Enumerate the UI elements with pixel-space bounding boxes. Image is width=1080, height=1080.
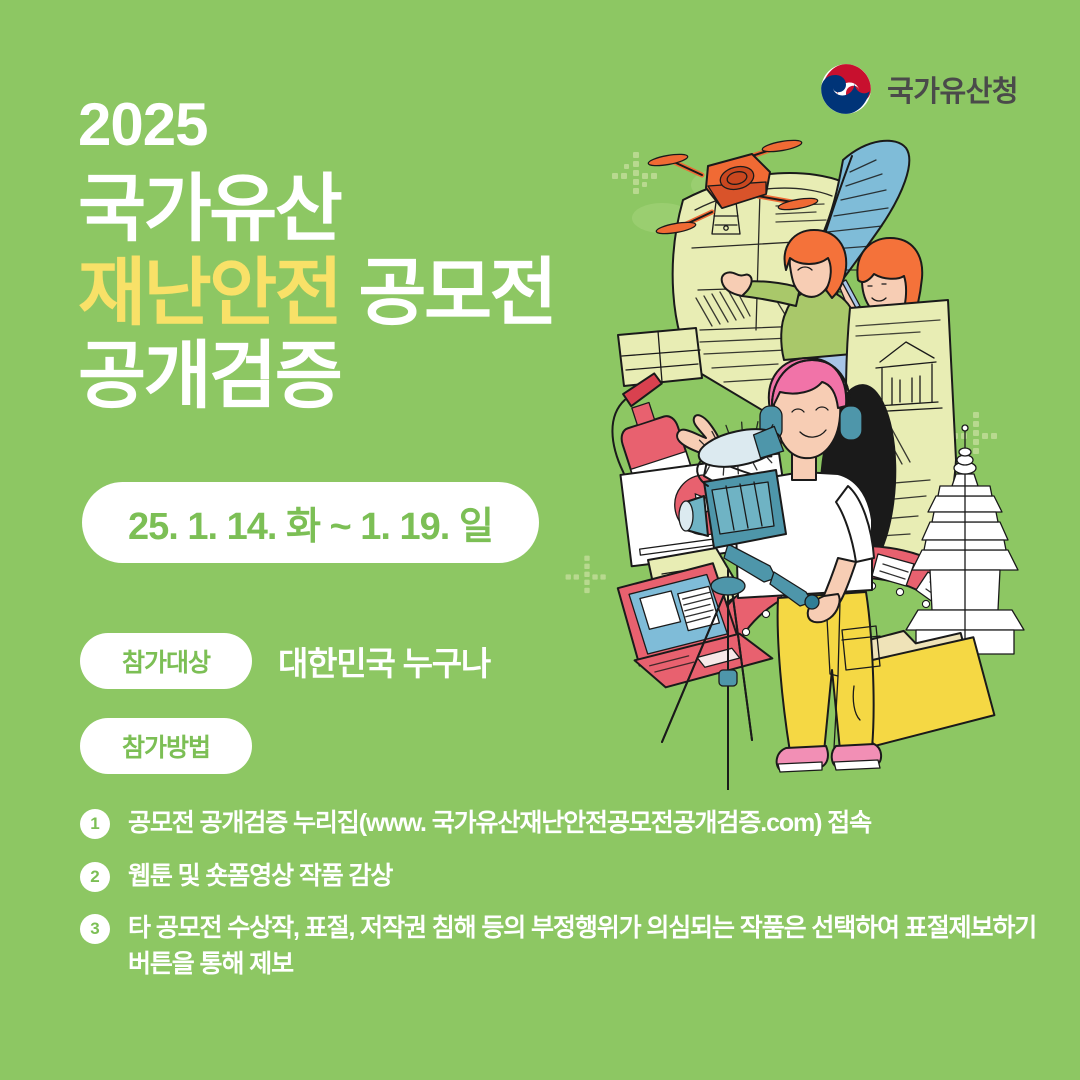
title-line-2-rest: 공모전 [358,251,555,334]
step-text: 타 공모전 수상작, 표절, 저작권 침해 등의 부정행위가 의심되는 작품은 … [128,911,1040,982]
date-badge-text: 25. 1. 14. 화 ~ 1. 19. 일 [128,495,493,550]
tag-participant-target-label: 참가대상 [122,649,210,677]
title-block: 2025 국가유산 재난안전 공모전 공개검증 [78,95,555,418]
title-line-1: 국가유산 [78,167,555,251]
step-number-badge: 1 [80,809,110,839]
list-item: 3 타 공모전 수상작, 표절, 저작권 침해 등의 부정행위가 의심되는 작품… [80,911,1040,982]
title-line-2: 재난안전 공모전 [78,251,555,335]
korea-government-taegeuk-emblem-icon [819,62,873,116]
participation-steps-list: 1 공모전 공개검증 누리집(www. 국가유산재난안전공모전공개검증.com)… [80,806,1040,999]
info-row-target: 참가대상 대한민국 누구나 [80,633,490,689]
list-item: 2 웹툰 및 숏폼영상 작품 감상 [80,859,1040,895]
date-badge: 25. 1. 14. 화 ~ 1. 19. 일 [82,482,539,563]
illustration-heritage-content-creators: .ink { fill:none; stroke:#1A1A1A; stroke… [600,130,1070,790]
participant-target-value: 대한민국 누구나 [278,637,490,685]
info-row-method: 참가방법 [80,718,252,774]
step-number-badge: 2 [80,862,110,892]
small-blueprint-paper [618,328,702,386]
agency-name: 국가유산청 [887,68,1018,110]
title-highlight: 재난안전 [78,251,340,334]
list-item: 1 공모전 공개검증 누리집(www. 국가유산재난안전공모전공개검증.com)… [80,806,1040,842]
title-year: 2025 [78,95,555,155]
step-text: 웹툰 및 숏폼영상 작품 감상 [128,859,392,895]
tag-participation-method-label: 참가방법 [122,734,210,762]
tag-participation-method: 참가방법 [80,718,252,774]
step-text: 공모전 공개검증 누리집(www. 국가유산재난안전공모전공개검증.com) 접… [128,806,871,842]
agency-logo: 국가유산청 [819,62,1018,116]
poster-canvas: .ink { fill:none; stroke:#1A1A1A; stroke… [0,0,1080,1080]
title-line-3: 공개검증 [78,334,555,418]
tag-participant-target: 참가대상 [80,633,252,689]
step-number-badge: 3 [80,914,110,944]
